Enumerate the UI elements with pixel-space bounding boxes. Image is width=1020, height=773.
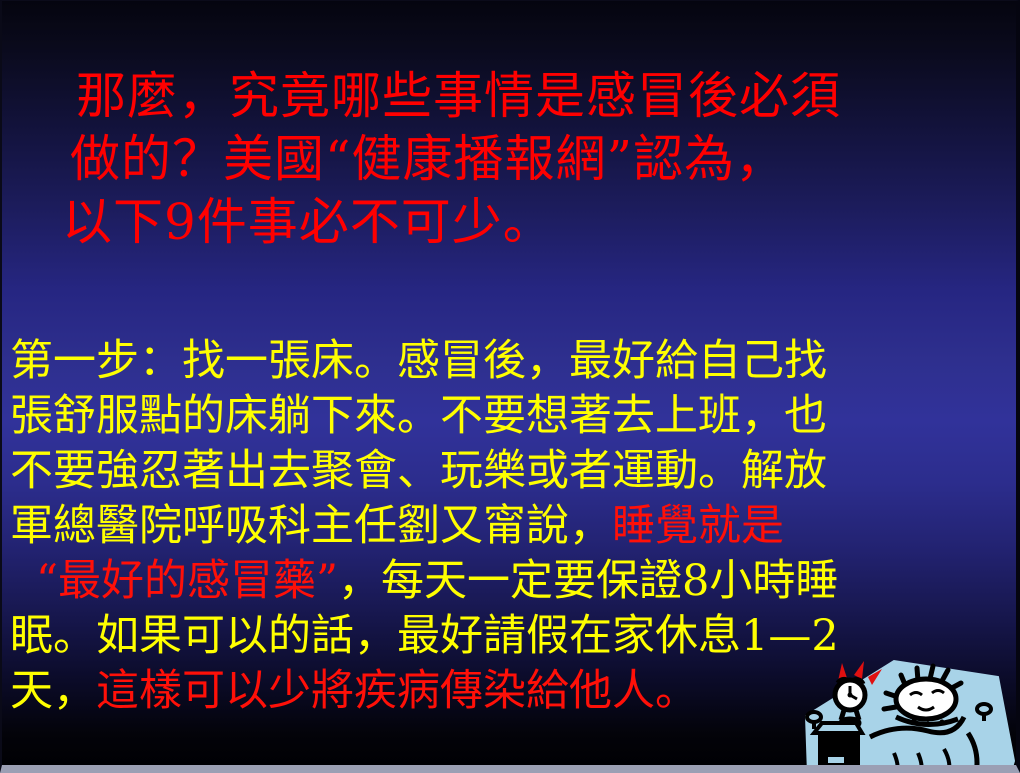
body-line-5: “最好的感冒藥”，每天一定要保證8小時睡 [10, 554, 1014, 609]
sleeping-person-clipart-icon [798, 641, 1020, 773]
body-line-7-plain: 天， [10, 666, 96, 716]
body-line-5-highlight: “最好的感冒藥” [36, 556, 338, 606]
slide-title: 那麼，究竟哪些事情是感冒後必須 做的？美國“健康播報網”認為， 以下9件事必不可… [76, 65, 966, 254]
body-line-4-highlight: 睡覺就是 [612, 501, 784, 551]
title-line-3: 以下9件事必不可少。 [62, 191, 966, 254]
body-line-7-highlight: 這樣可以少將疾病傳染給他人。 [96, 666, 698, 716]
body-line-5-plain: ，每天一定要保證8小時睡 [338, 556, 838, 606]
body-line-1: 第一步：找一張床。感冒後，最好給自己找 [10, 334, 1014, 389]
body-line-4-plain: 軍總醫院呼吸科主任劉又甯說， [10, 501, 612, 551]
presentation-slide: 那麼，究竟哪些事情是感冒後必須 做的？美國“健康播報網”認為， 以下9件事必不可… [0, 0, 1020, 773]
body-line-2: 張舒服點的床躺下來。不要想著去上班，也 [10, 389, 1014, 444]
body-line-3: 不要強忍著出去聚會、玩樂或者運動。解放 [10, 444, 1014, 499]
title-line-1: 那麼，究竟哪些事情是感冒後必須 [76, 65, 966, 128]
body-line-4: 軍總醫院呼吸科主任劉又甯說，睡覺就是 [10, 499, 1014, 554]
title-line-2: 做的？美國“健康播報網”認為， [70, 128, 966, 191]
